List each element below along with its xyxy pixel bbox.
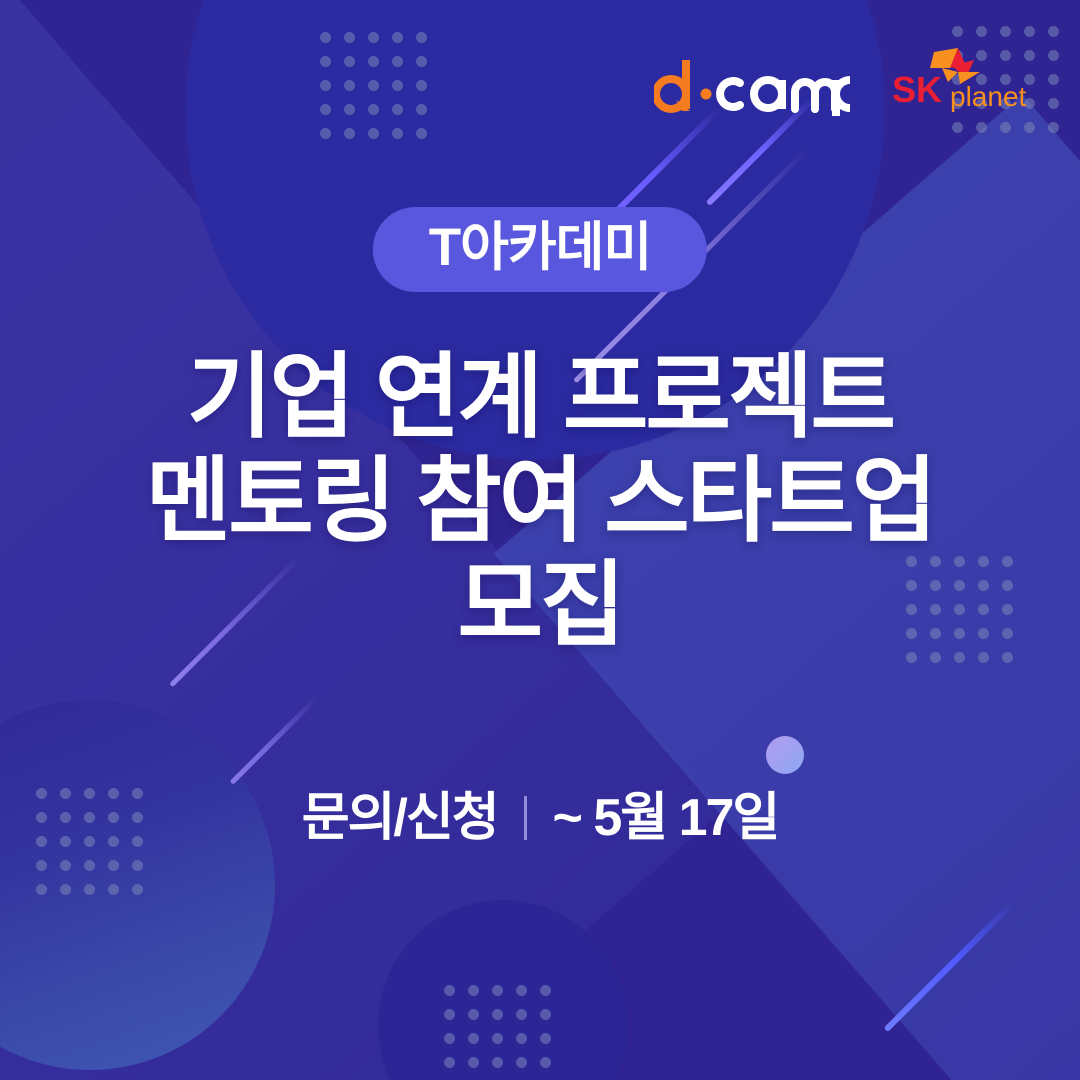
deadline-label: ~ 5월 17일 xyxy=(553,792,779,844)
headline-line-2: 멘토링 참여 스타트업 xyxy=(0,449,1080,553)
sk-planet-logo-icon: SK planet xyxy=(888,46,1028,124)
promo-poster: SK planet T아카데미 기업 연계 프로젝트 멘토링 참여 스타트업 모… xyxy=(0,0,1080,1080)
logo-row: SK planet xyxy=(654,46,1028,124)
footer-separator xyxy=(524,796,527,840)
page-title: 기업 연계 프로젝트 멘토링 참여 스타트업 모집 xyxy=(0,345,1080,657)
category-badge[interactable]: T아카데미 xyxy=(373,207,707,292)
headline-line-1: 기업 연계 프로젝트 xyxy=(0,345,1080,449)
svg-text:planet: planet xyxy=(950,81,1027,112)
svg-text:SK: SK xyxy=(892,69,942,110)
poster-content: SK planet T아카데미 기업 연계 프로젝트 멘토링 참여 스타트업 모… xyxy=(0,0,1080,1080)
footer-info: 문의/신청 ~ 5월 17일 xyxy=(0,792,1080,844)
contact-apply-label: 문의/신청 xyxy=(302,792,498,844)
dcamp-logo xyxy=(654,54,850,116)
dcamp-logo-icon xyxy=(654,54,850,116)
headline-line-3: 모집 xyxy=(0,553,1080,657)
